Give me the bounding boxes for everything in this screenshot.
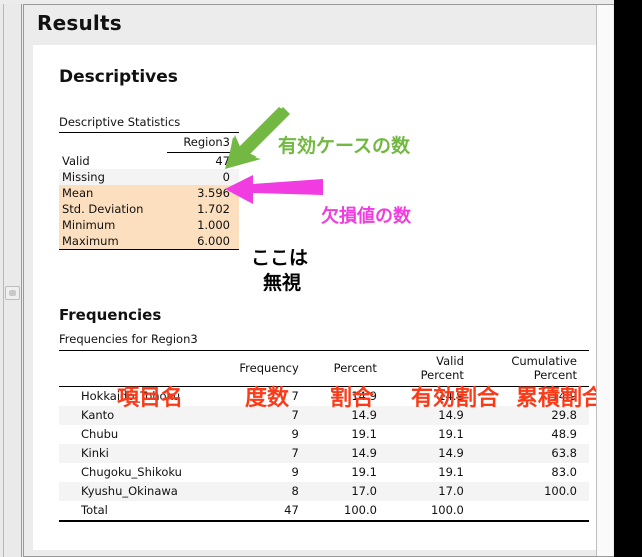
freq-cell-valid-percent: 19.1 [391,425,480,444]
freq-cell-frequency: 9 [225,463,312,482]
table-row: Chubu 9 19.1 19.1 48.9 [59,425,589,444]
magenta-arrow-icon [223,173,325,209]
table-row: Chugoku_Shikoku 9 19.1 19.1 83.0 [59,463,589,482]
frequencies-heading: Frequencies [59,306,161,324]
desc-label-std-deviation: Std. Deviation [59,201,167,217]
annotation-cumulative-percent-label: 累積割合 [516,380,598,412]
freq-cell-cumulative-percent: 83.0 [480,463,589,482]
panel-splitter[interactable] [0,4,22,557]
freq-cell-frequency: 9 [225,425,312,444]
freq-cell-total-valid-percent: 100.0 [391,501,480,521]
annotation-valid-percent-label: 有効割合 [411,380,499,412]
table-row: Kyushu_Okinawa 8 17.0 17.0 100.0 [59,482,589,501]
freq-cell-percent: 17.0 [313,482,391,501]
desc-value-minimum: 1.000 [167,217,239,233]
table-row: Mean 3.596 [59,185,239,201]
green-arrow-icon [211,107,291,179]
table-row: Maximum 6.000 [59,233,239,250]
table-row: Std. Deviation 1.702 [59,201,239,217]
frequencies-table: Frequency Percent Valid Percent Cumulati… [59,350,589,522]
annotation-valid-cases-text: 有効ケースの数 [278,131,410,158]
freq-cell-frequency: 8 [225,482,312,501]
annotation-count-label: 度数 [245,380,289,412]
freq-cell-valid-percent: 17.0 [391,482,480,501]
desc-value-maximum: 6.000 [167,233,239,250]
freq-cell-total-cumulative-percent [480,501,589,521]
freq-cell-percent: 14.9 [313,444,391,463]
descriptives-caption: Descriptive Statistics [59,115,180,129]
splitter-track [3,4,21,557]
table-row: Minimum 1.000 [59,217,239,233]
annotation-missing-values-text: 欠損値の数 [321,202,411,228]
annotation-percent-label: 割合 [330,380,374,412]
freq-cell-cumulative-percent: 48.9 [480,425,589,444]
splitter-grip-handle[interactable] [5,286,20,300]
freq-cell-valid-percent: 14.9 [391,444,480,463]
annotation-ignore-line1: ここは [251,247,308,269]
freq-cell-name: Kyushu_Okinawa [59,482,225,501]
freq-cell-cumulative-percent: 100.0 [480,482,589,501]
freq-cell-percent: 19.1 [313,425,391,444]
freq-cell-valid-percent: 19.1 [391,463,480,482]
page-title: Results [37,11,122,35]
vertical-scrollbar[interactable] [596,5,613,556]
screen-letterbox-right [614,0,642,557]
freq-cell-total-percent: 100.0 [313,501,391,521]
table-row: Total 47 100.0 100.0 [59,501,589,521]
freq-cell-percent: 19.1 [313,463,391,482]
annotation-item-name-label: 項目名 [117,380,183,412]
descriptives-heading: Descriptives [59,67,178,87]
screenshot-root: Results Descriptives Descriptive Statist… [0,0,642,557]
freq-cell-name: Kinki [59,444,225,463]
results-document-sheet: Descriptives Descriptive Statistics Regi… [33,45,598,550]
desc-header-blank [59,133,167,153]
table-row: Kinki 7 14.9 14.9 63.8 [59,444,589,463]
desc-label-mean: Mean [59,185,167,201]
freq-cell-frequency: 7 [225,444,312,463]
desc-label-valid: Valid [59,153,167,170]
annotation-ignore-text: ここは 無視 [251,246,308,296]
desc-label-missing: Missing [59,169,167,185]
annotation-ignore-line2: 無視 [263,271,308,296]
freq-cell-name: Chugoku_Shikoku [59,463,225,482]
freq-cell-total-frequency: 47 [225,501,312,521]
freq-cell-cumulative-percent: 63.8 [480,444,589,463]
freq-cell-name: Chubu [59,425,225,444]
freq-cell-total-label: Total [59,501,225,521]
desc-label-minimum: Minimum [59,217,167,233]
frequencies-caption: Frequencies for Region3 [59,332,198,346]
desc-label-maximum: Maximum [59,233,167,250]
results-panel: Results Descriptives Descriptive Statist… [23,4,614,557]
